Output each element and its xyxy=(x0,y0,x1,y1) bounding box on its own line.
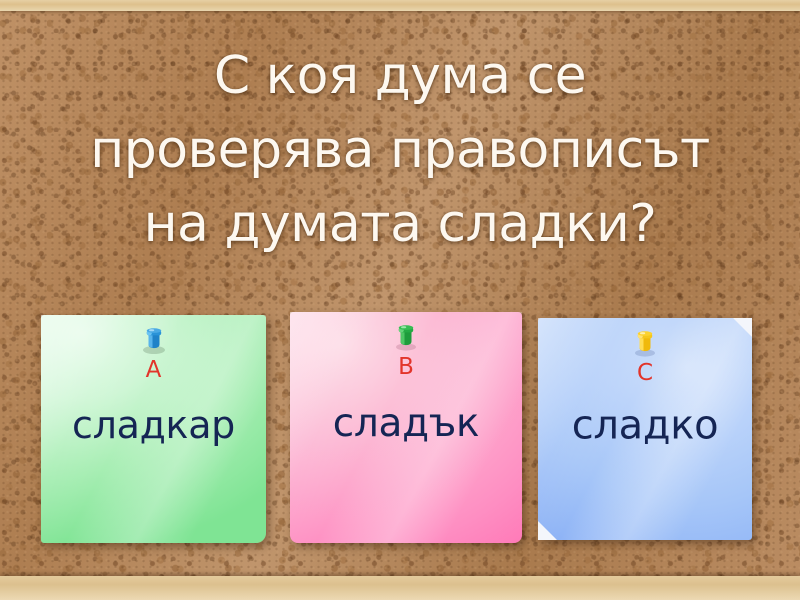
pushpin-icon xyxy=(628,326,662,360)
question-line-3: на думата сладки? xyxy=(14,188,786,262)
folded-corner-bottom-left xyxy=(538,521,557,540)
question-line-2: проверява правописът xyxy=(14,114,786,188)
option-text-b: сладък xyxy=(290,403,522,446)
option-text-a: сладкар xyxy=(41,405,266,447)
option-text-c: сладко xyxy=(538,403,752,447)
option-letter-b: B xyxy=(290,356,522,379)
board-frame-top xyxy=(0,0,800,11)
pushpin-icon xyxy=(389,320,423,354)
board-frame-bottom xyxy=(0,576,800,600)
option-letter-a: A xyxy=(41,359,266,382)
pushpin-icon xyxy=(137,323,171,357)
answer-option-a[interactable]: A сладкар xyxy=(41,315,266,543)
folded-corner-top-right xyxy=(733,318,752,337)
option-letter-c: C xyxy=(538,362,752,385)
cork-board-background: С коя дума се проверява правописът на ду… xyxy=(0,0,800,600)
answer-option-c[interactable]: C сладко xyxy=(538,318,752,540)
question-text: С коя дума се проверява правописът на ду… xyxy=(0,40,800,261)
answer-option-b[interactable]: B сладък xyxy=(290,312,522,543)
question-line-1: С коя дума се xyxy=(14,40,786,114)
